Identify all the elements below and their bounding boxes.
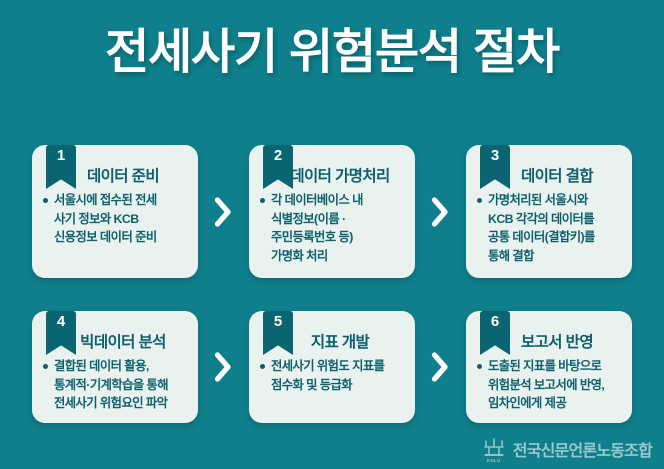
- step-body-3: 가명처리된 서울시와 KCB 각각의 데이터를 공통 데이터(결합키)를 통해 …: [477, 191, 623, 266]
- step-description-3: 가명처리된 서울시와 KCB 각각의 데이터를 공통 데이터(결합키)를 통해 …: [488, 191, 623, 266]
- step-title-1: 데이터 준비: [32, 164, 198, 186]
- bullet-icon: [260, 198, 265, 203]
- watermark-text: 전국신문언론노동조합: [513, 437, 652, 461]
- step-title-2: 데이터 가명처리: [249, 164, 415, 186]
- flow-arrow-4-to-5: [198, 311, 249, 423]
- step-card-6[interactable]: 6 보고서 반영 도출된 지표를 바탕으로 위험분석 보고서에 반영, 임차인에…: [466, 311, 632, 423]
- step-card-2[interactable]: 2 데이터 가명처리 각 데이터베이스 내 식별정보(이름 · 주민등록번호 등…: [249, 145, 415, 278]
- step-description-4: 결합된 데이터 활용, 통계적·기계학습을 통해 전세사기 위험요인 파악: [54, 357, 189, 413]
- step-body-1: 서울시에 접수된 전세 사기 정보와 KCB 신용정보 데이터 준비: [43, 191, 189, 247]
- bullet-icon: [43, 198, 48, 203]
- step-body-5: 전세사기 위험도 지표를 점수화 및 등급화: [260, 357, 406, 394]
- bullet-icon: [477, 198, 482, 203]
- step-title-3: 데이터 결합: [466, 164, 632, 186]
- chevron-right-icon: [214, 352, 233, 382]
- step-description-6: 도출된 지표를 바탕으로 위험분석 보고서에 반영, 임차인에게 제공: [488, 357, 623, 413]
- flow-arrow-5-to-6: [415, 311, 466, 423]
- bullet-icon: [43, 364, 48, 369]
- step-card-1[interactable]: 1 데이터 준비 서울시에 접수된 전세 사기 정보와 KCB 신용정보 데이터…: [32, 145, 198, 278]
- step-description-5: 전세사기 위험도 지표를 점수화 및 등급화: [271, 357, 406, 394]
- chevron-right-icon: [431, 197, 450, 227]
- flow-arrow-1-to-2: [198, 145, 249, 278]
- step-body-4: 결합된 데이터 활용, 통계적·기계학습을 통해 전세사기 위험요인 파악: [43, 357, 189, 413]
- step-title-4: 빅데이터 분석: [32, 330, 198, 352]
- process-row-2: 4 빅데이터 분석 결합된 데이터 활용, 통계적·기계학습을 통해 전세사기 …: [32, 311, 632, 423]
- step-body-2: 각 데이터베이스 내 식별정보(이름 · 주민등록번호 등) 가명화 처리: [260, 191, 406, 266]
- bullet-icon: [477, 364, 482, 369]
- step-description-2: 각 데이터베이스 내 식별정보(이름 · 주민등록번호 등) 가명화 처리: [271, 191, 406, 266]
- knlu-emblem-icon: KNLU: [481, 435, 507, 463]
- knlu-emblem-glyph: [482, 438, 506, 458]
- bullet-icon: [260, 364, 265, 369]
- process-row-1: 1 데이터 준비 서울시에 접수된 전세 사기 정보와 KCB 신용정보 데이터…: [32, 145, 632, 278]
- step-number-3: 3: [491, 148, 499, 163]
- step-description-1: 서울시에 접수된 전세 사기 정보와 KCB 신용정보 데이터 준비: [54, 191, 189, 247]
- flow-arrow-2-to-3: [415, 145, 466, 278]
- process-flow: 1 데이터 준비 서울시에 접수된 전세 사기 정보와 KCB 신용정보 데이터…: [0, 145, 664, 423]
- step-card-5[interactable]: 5 지표 개발 전세사기 위험도 지표를 점수화 및 등급화: [249, 311, 415, 423]
- chevron-right-icon: [431, 352, 450, 382]
- step-card-4[interactable]: 4 빅데이터 분석 결합된 데이터 활용, 통계적·기계학습을 통해 전세사기 …: [32, 311, 198, 423]
- step-title-5: 지표 개발: [249, 330, 415, 352]
- step-number-4: 4: [57, 314, 65, 329]
- step-title-6: 보고서 반영: [466, 330, 632, 352]
- watermark-abbr: KNLU: [487, 459, 501, 464]
- watermark: KNLU 전국신문언론노동조합: [481, 435, 652, 463]
- step-card-3[interactable]: 3 데이터 결합 가명처리된 서울시와 KCB 각각의 데이터를 공통 데이터(…: [466, 145, 632, 278]
- page-title: 전세사기 위험분석 절차: [0, 28, 664, 78]
- step-body-6: 도출된 지표를 바탕으로 위험분석 보고서에 반영, 임차인에게 제공: [477, 357, 623, 413]
- step-number-2: 2: [274, 148, 282, 163]
- infographic-canvas: 전세사기 위험분석 절차 1 데이터 준비 서울시에 접수된 전세 사기 정보와…: [0, 0, 664, 469]
- step-number-6: 6: [491, 314, 499, 329]
- page-title-text: 전세사기 위험분석 절차: [105, 28, 559, 78]
- step-number-1: 1: [57, 148, 65, 163]
- step-number-5: 5: [274, 314, 282, 329]
- chevron-right-icon: [214, 197, 233, 227]
